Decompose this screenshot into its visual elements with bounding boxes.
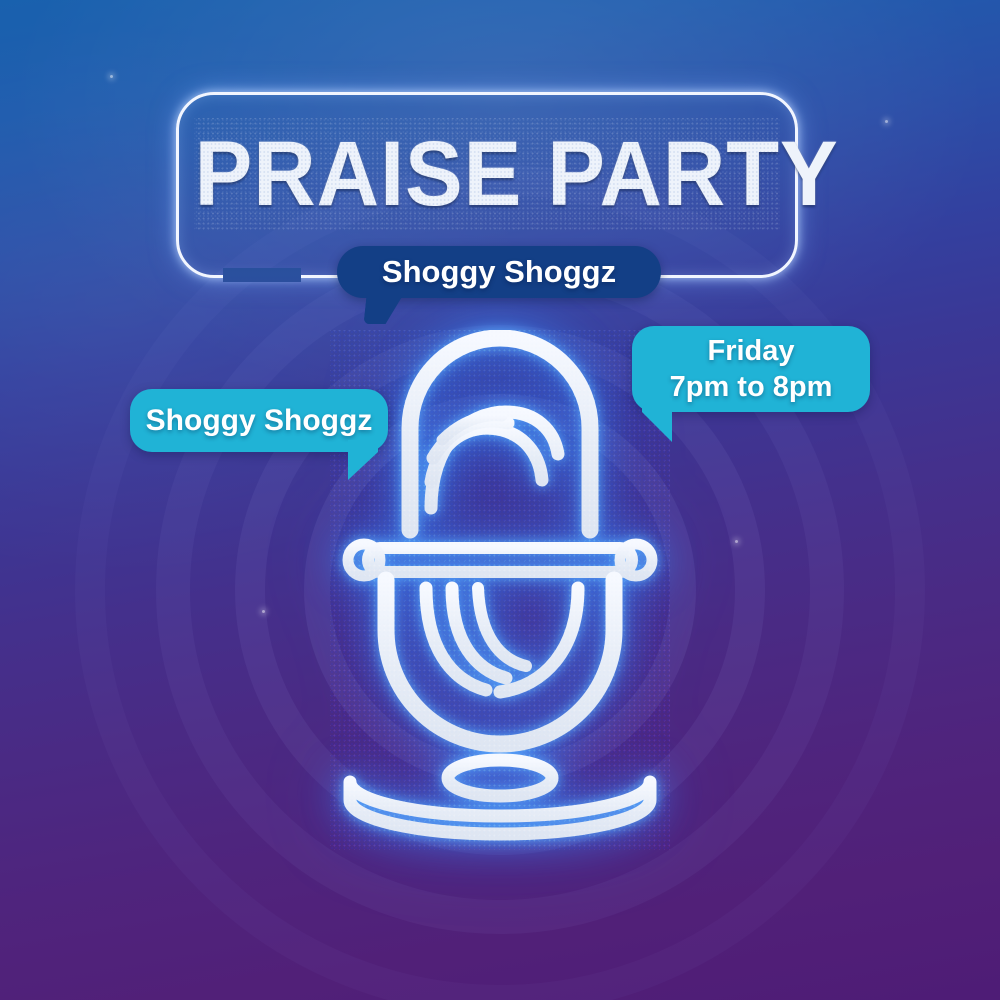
poster-canvas: PRAISE PARTY Shoggy Shoggz Friday 7pm to… (0, 0, 1000, 1000)
sparkle-dot (262, 610, 265, 613)
event-time-text: Friday 7pm to 8pm (670, 333, 833, 405)
page-title: PRAISE PARTY (195, 118, 780, 230)
bubble-tail (348, 440, 378, 480)
artist-name-left-label: Shoggy Shoggz (146, 404, 373, 438)
speech-bubble-artist-top: Shoggy Shoggz (337, 246, 661, 298)
bubble-tail (364, 296, 403, 324)
sparkle-dot (735, 540, 738, 543)
sparkle-dot (110, 75, 113, 78)
event-day-label: Friday (707, 335, 794, 367)
speech-bubble-time: Friday 7pm to 8pm (632, 326, 870, 412)
title-frame-tail-notch (223, 268, 301, 282)
speech-bubble-artist-left: Shoggy Shoggz (130, 389, 388, 452)
bubble-tail (642, 398, 672, 442)
sparkle-dot (885, 120, 888, 123)
event-hours-label: 7pm to 8pm (670, 371, 833, 403)
artist-name-top-label: Shoggy Shoggz (382, 254, 616, 290)
